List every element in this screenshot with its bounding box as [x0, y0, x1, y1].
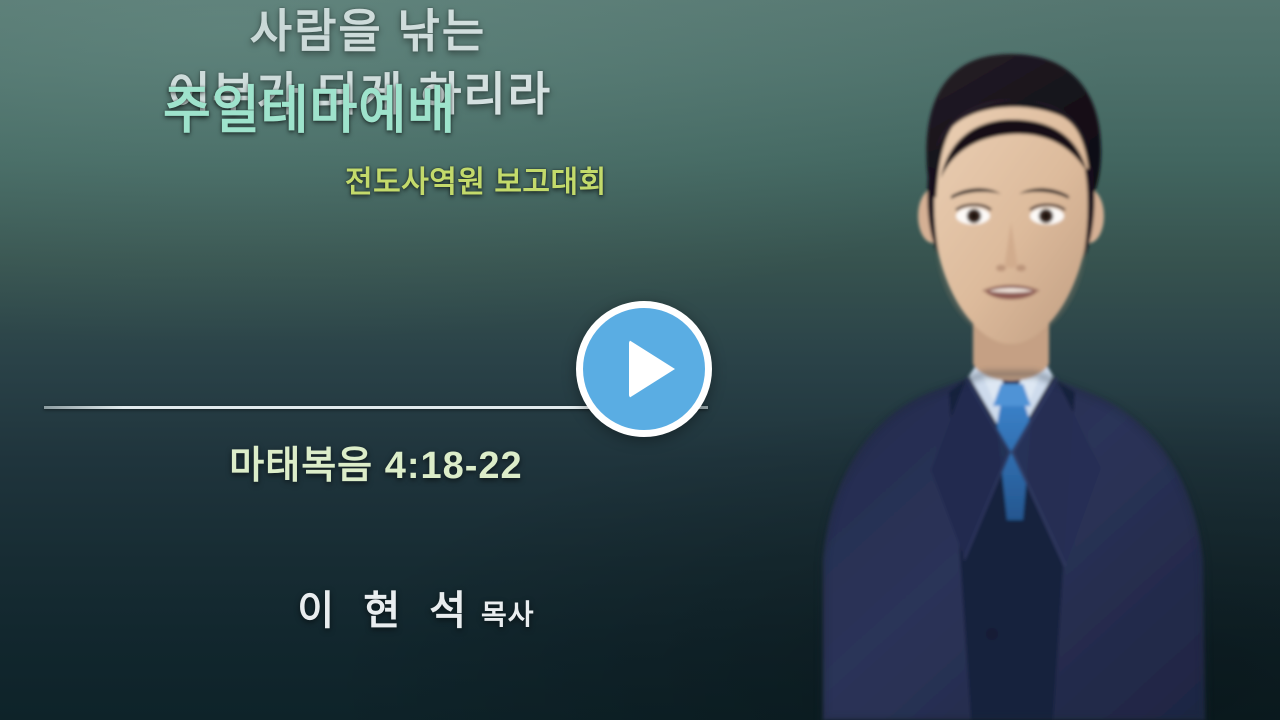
- scripture-reference: 마태복음 4:18-22: [0, 434, 752, 489]
- video-thumbnail: 주일테마예배 전도사역원 보고대회 사람을 낚는 어부가 되게 하리라 마태복음…: [0, 0, 1280, 720]
- sermon-title-line-1: 사람을 낚는: [0, 0, 720, 63]
- speaker-role: 목사: [481, 599, 535, 630]
- play-button[interactable]: [576, 301, 712, 437]
- speaker-name: 이 현 석: [297, 589, 475, 633]
- play-icon: [629, 340, 675, 398]
- service-title: 주일테마예배: [163, 68, 456, 143]
- speaker-credit: 이 현 석목사: [0, 578, 832, 636]
- service-subtitle: 전도사역원 보고대회: [345, 157, 607, 201]
